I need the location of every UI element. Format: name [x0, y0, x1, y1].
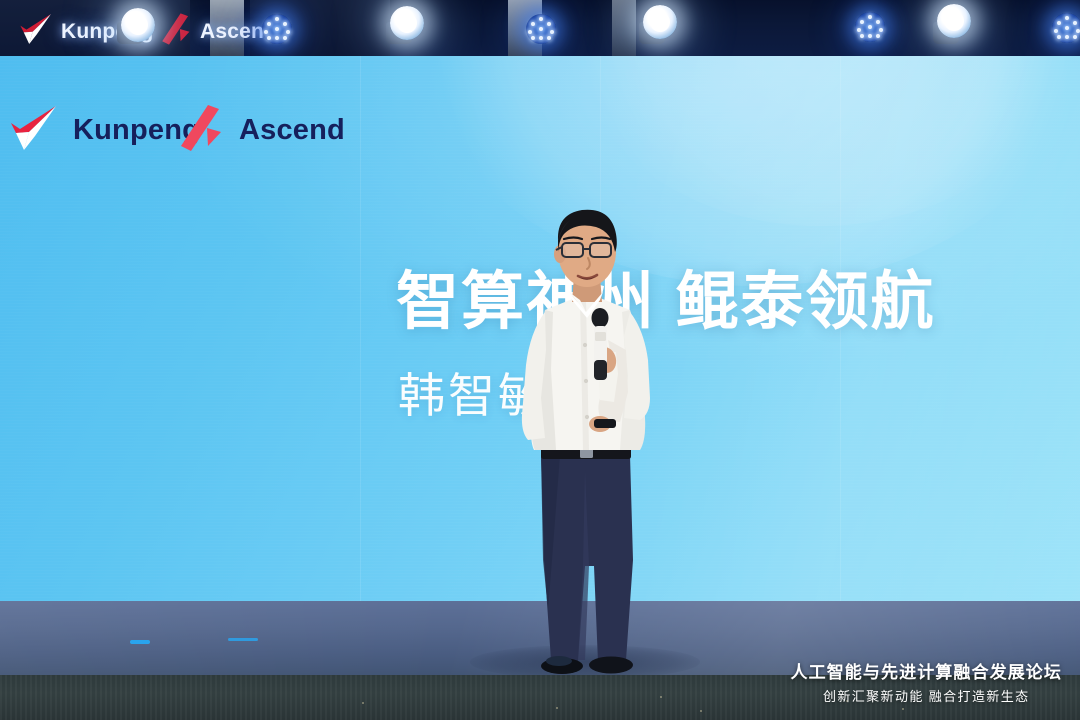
kunpeng-bird-mark-icon — [18, 12, 54, 51]
forum-title: 人工智能与先进计算融合发展论坛 — [791, 662, 1063, 684]
speaker-figure — [0, 0, 1080, 720]
led-cluster-blue-icon — [1052, 13, 1080, 43]
spotlight-white-icon — [643, 5, 677, 39]
truss-logo-ascend: Ascend — [160, 12, 277, 51]
forum-branding-lockup: 人工智能与先进计算融合发展论坛 创新汇聚新动能 融合打造新生态 — [791, 662, 1063, 706]
forum-subtitle: 创新汇聚新动能 融合打造新生态 — [791, 689, 1063, 706]
ascend-a-mark-icon — [160, 12, 193, 51]
led-cluster-blue-icon — [526, 14, 556, 44]
truss-pillar — [612, 0, 636, 56]
led-cluster-blue-icon — [855, 12, 885, 42]
spotlight-white-icon — [390, 6, 424, 40]
conference-stage-photo: Kunpeng Ascend 智算神州 鲲泰领航 韩智敏 — [0, 0, 1080, 720]
led-cluster-blue-icon — [262, 14, 292, 44]
spotlight-white-icon — [937, 4, 971, 38]
spotlight-white-icon — [121, 8, 155, 42]
stage-truss-band: Kunpeng Ascend — [0, 0, 1080, 56]
